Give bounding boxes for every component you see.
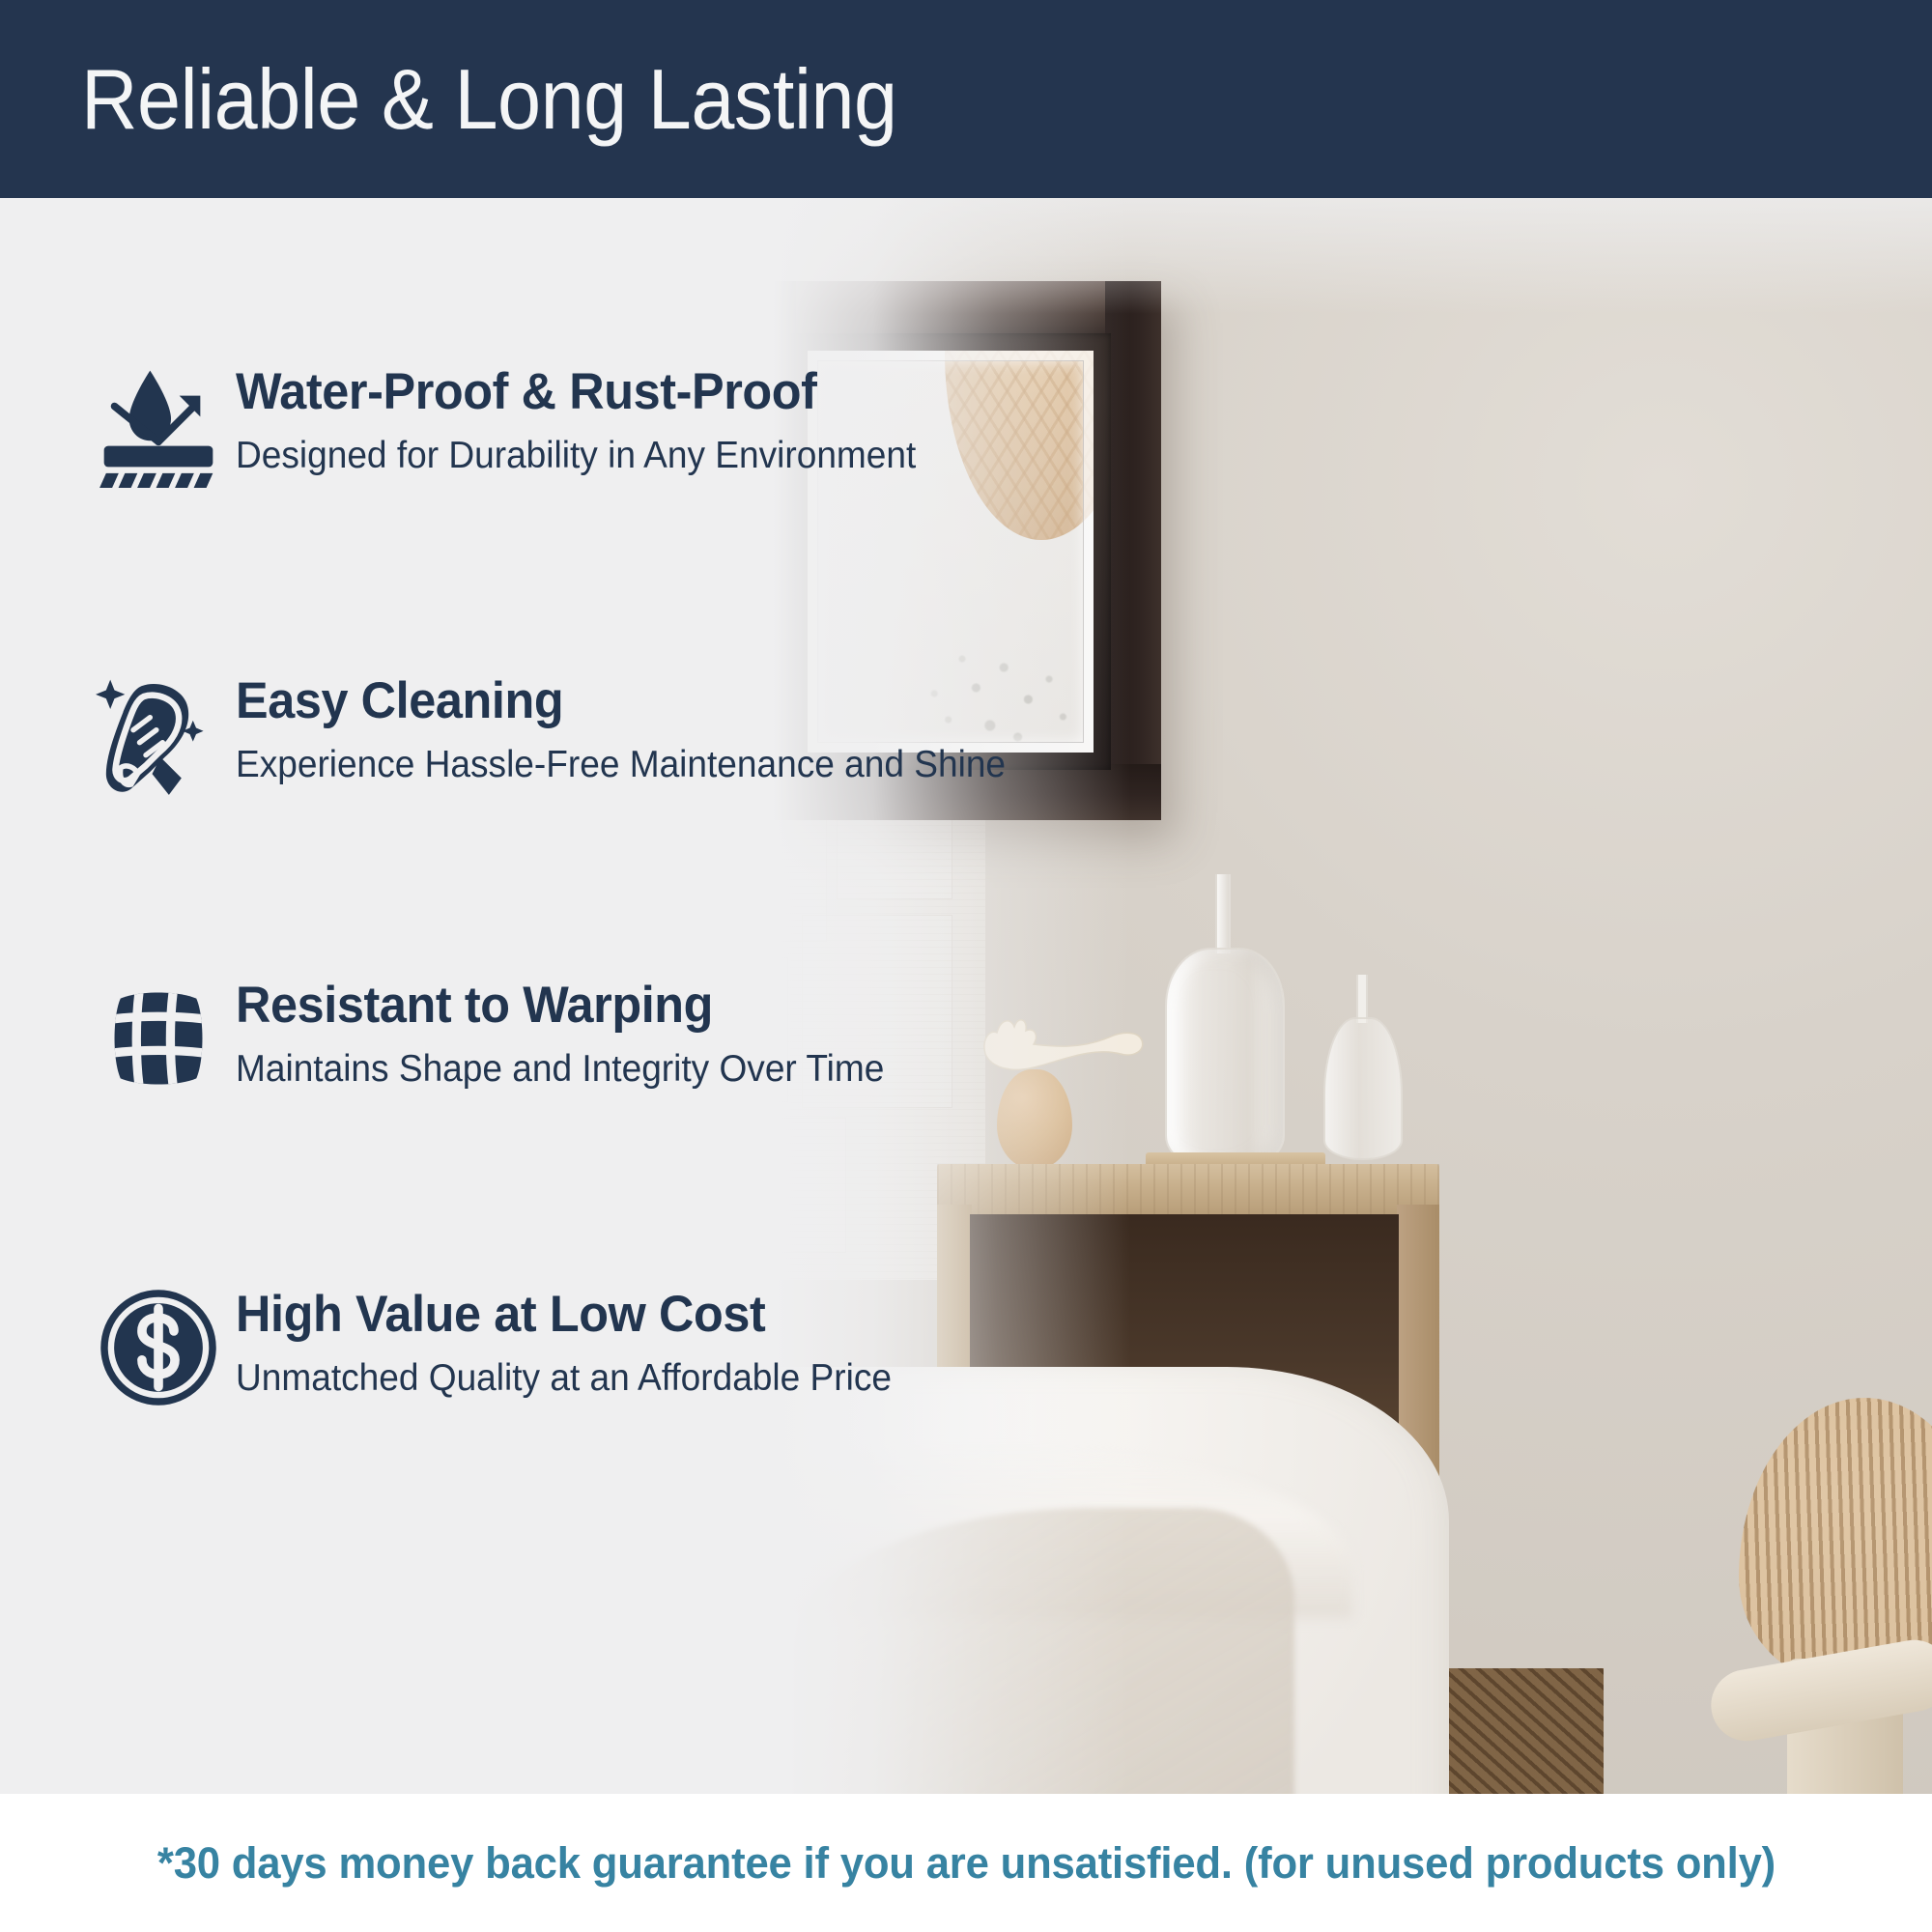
feature-title: Easy Cleaning xyxy=(236,672,1006,729)
feature-list: Water-Proof & Rust-Proof Designed for Du… xyxy=(0,198,1188,1794)
feature-text: Water-Proof & Rust-Proof Designed for Du… xyxy=(236,348,952,479)
hand-cleaning-sponge-icon xyxy=(81,657,236,811)
glass-bottle-neck xyxy=(1356,975,1368,1023)
feature-subtitle: Unmatched Quality at an Affordable Price xyxy=(236,1356,892,1402)
feature-title: Water-Proof & Rust-Proof xyxy=(236,363,916,420)
feature-item-resistant-warping: Resistant to Warping Maintains Shape and… xyxy=(81,961,919,1116)
page-title: Reliable & Long Lasting xyxy=(81,50,897,149)
feature-title: High Value at Low Cost xyxy=(236,1286,892,1343)
small-glass-bottle xyxy=(1323,1017,1403,1160)
water-droplet-repel-icon xyxy=(81,348,236,502)
feature-item-high-value: High Value at Low Cost Unmatched Quality… xyxy=(81,1270,926,1425)
feature-item-easy-cleaning: Easy Cleaning Experience Hassle-Free Mai… xyxy=(81,657,1046,811)
footer-bar: *30 days money back guarantee if you are… xyxy=(0,1794,1932,1932)
main-stage: Water-Proof & Rust-Proof Designed for Du… xyxy=(0,198,1932,1794)
feature-title: Resistant to Warping xyxy=(236,977,884,1034)
glass-bottle-neck xyxy=(1215,874,1231,953)
feature-text: Resistant to Warping Maintains Shape and… xyxy=(236,961,919,1093)
feature-subtitle: Maintains Shape and Integrity Over Time xyxy=(236,1047,884,1093)
feature-text: Easy Cleaning Experience Hassle-Free Mai… xyxy=(236,657,1046,788)
infographic-page: Reliable & Long Lasting xyxy=(0,0,1932,1932)
feature-text: High Value at Low Cost Unmatched Quality… xyxy=(236,1270,926,1402)
money-back-guarantee-note: *30 days money back guarantee if you are… xyxy=(156,1838,1775,1889)
feature-subtitle: Experience Hassle-Free Maintenance and S… xyxy=(236,743,1006,788)
header-banner: Reliable & Long Lasting xyxy=(0,0,1932,198)
feature-item-water-proof: Water-Proof & Rust-Proof Designed for Du… xyxy=(81,348,952,502)
grid-mesh-warp-icon xyxy=(81,961,236,1116)
rattan-chair xyxy=(1700,1398,1932,1794)
dollar-coin-icon xyxy=(81,1270,236,1425)
feature-subtitle: Designed for Durability in Any Environme… xyxy=(236,434,916,479)
